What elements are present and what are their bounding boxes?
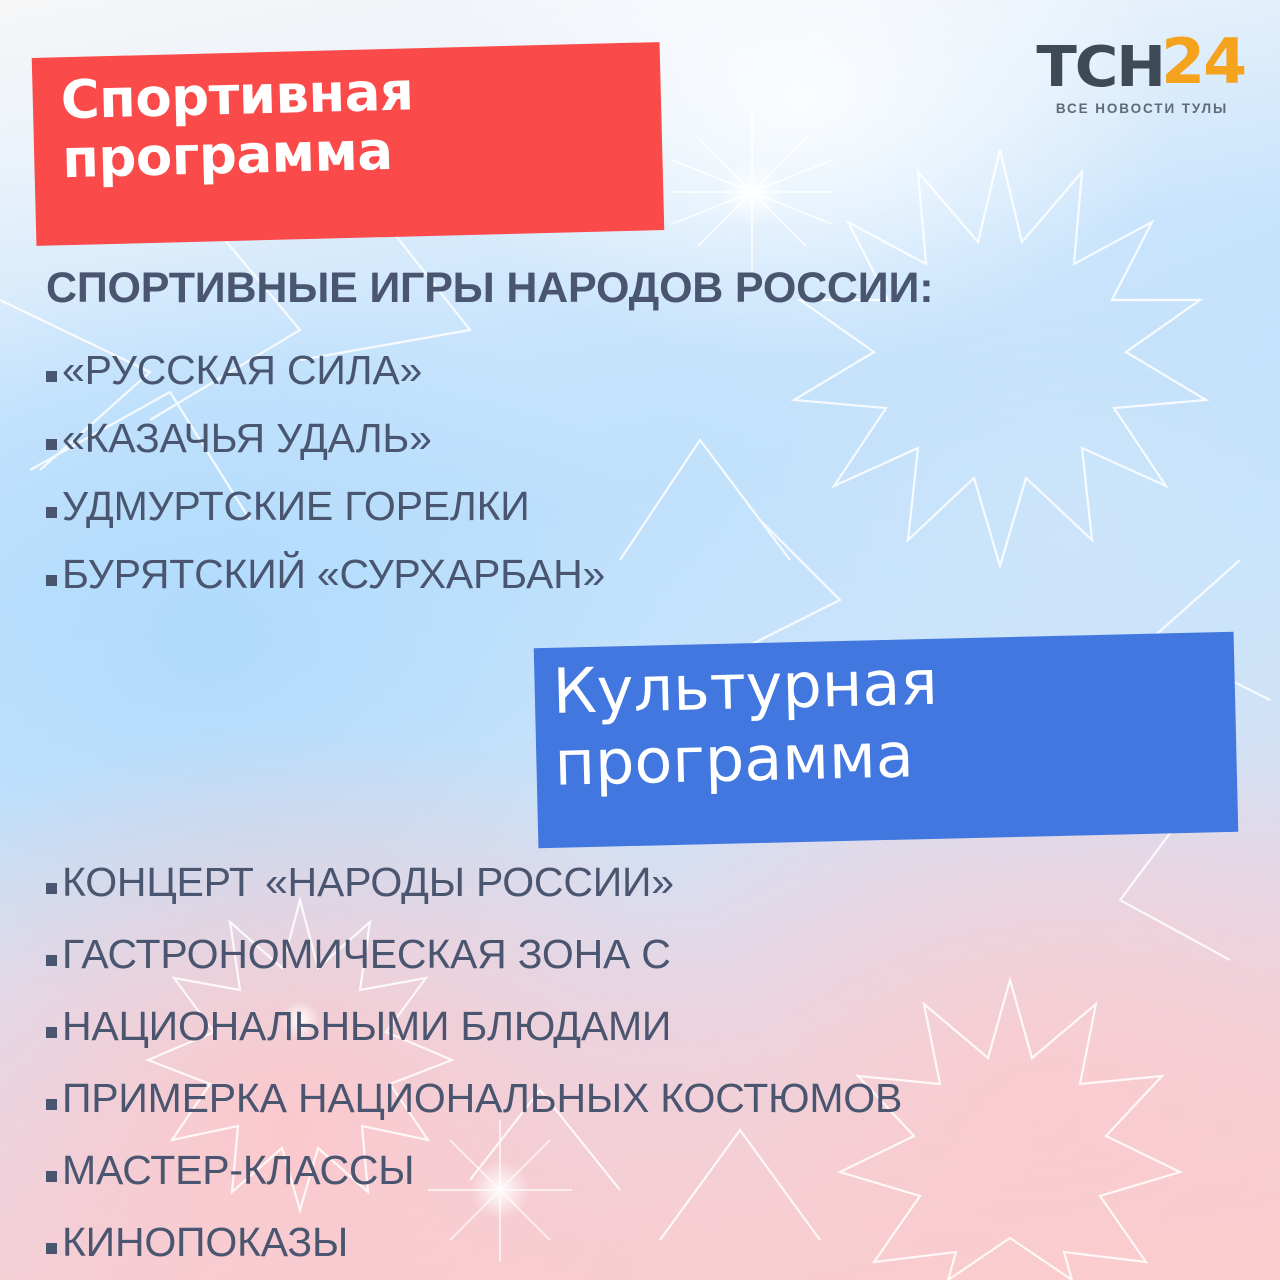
promo-card: ТСН 24 ВСЕ НОВОСТИ ТУЛЫ Спортивная прогр… — [0, 0, 1280, 1280]
list-item-label: УДМУРТСКИЕ ГОРЕЛКИ — [62, 472, 530, 540]
list-item-label: МАСТЕР-КЛАССЫ — [62, 1134, 414, 1206]
square-bullet-icon — [46, 883, 57, 894]
list-item: НАЦИОНАЛЬНЫМИ БЛЮДАМИ — [46, 990, 902, 1062]
list-item: МАСТЕР-КЛАССЫ — [46, 1134, 902, 1206]
logo-wordmark: ТСН 24 — [1038, 44, 1246, 92]
culture-banner-line2: программа — [554, 712, 1218, 799]
list-item: УДМУРТСКИЕ ГОРЕЛКИ — [46, 472, 605, 540]
list-item-label: БУРЯТСКИЙ «СУРХАРБАН» — [62, 540, 605, 608]
square-bullet-icon — [46, 1243, 57, 1254]
brand-logo: ТСН 24 ВСЕ НОВОСТИ ТУЛЫ — [1038, 44, 1246, 116]
sport-items-list: «РУССКАЯ СИЛА» «КАЗАЧЬЯ УДАЛЬ» УДМУРТСКИ… — [46, 336, 605, 608]
square-bullet-icon — [46, 955, 57, 966]
culture-items-list: КОНЦЕРТ «НАРОДЫ РОССИИ» ГАСТРОНОМИЧЕСКАЯ… — [46, 846, 902, 1278]
list-item: КИНОПОКАЗЫ — [46, 1206, 902, 1278]
list-item: ПРИМЕРКА НАЦИОНАЛЬНЫХ КОСТЮМОВ — [46, 1062, 902, 1134]
culture-program-banner: Культурная программа — [534, 632, 1239, 848]
sport-program-banner: Спортивная программа — [32, 42, 665, 246]
list-item-label: ГАСТРОНОМИЧЕСКАЯ ЗОНА С — [62, 918, 671, 990]
list-item: КОНЦЕРТ «НАРОДЫ РОССИИ» — [46, 846, 902, 918]
square-bullet-icon — [46, 575, 57, 586]
square-bullet-icon — [46, 1171, 57, 1182]
list-item-label: НАЦИОНАЛЬНЫМИ БЛЮДАМИ — [62, 990, 671, 1062]
logo-number-text: 24 — [1161, 36, 1245, 89]
list-item: БУРЯТСКИЙ «СУРХАРБАН» — [46, 540, 605, 608]
list-item-label: «РУССКАЯ СИЛА» — [62, 336, 422, 404]
list-item-label: «КАЗАЧЬЯ УДАЛЬ» — [62, 404, 432, 472]
list-item-label: КОНЦЕРТ «НАРОДЫ РОССИИ» — [62, 846, 674, 918]
list-item: «РУССКАЯ СИЛА» — [46, 336, 605, 404]
square-bullet-icon — [46, 439, 57, 450]
logo-tagline: ВСЕ НОВОСТИ ТУЛЫ — [1038, 101, 1246, 116]
square-bullet-icon — [46, 1099, 57, 1110]
list-item: «КАЗАЧЬЯ УДАЛЬ» — [46, 404, 605, 472]
square-bullet-icon — [46, 1027, 57, 1038]
sport-section-heading: СПОРТИВНЫЕ ИГРЫ НАРОДОВ РОССИИ: — [46, 264, 933, 313]
square-bullet-icon — [46, 371, 57, 382]
square-bullet-icon — [46, 507, 57, 518]
sport-banner-line2: программа — [62, 116, 641, 190]
list-item-label: КИНОПОКАЗЫ — [62, 1206, 348, 1278]
list-item: ГАСТРОНОМИЧЕСКАЯ ЗОНА С — [46, 918, 902, 990]
logo-primary-text: ТСН — [1036, 44, 1163, 92]
list-item-label: ПРИМЕРКА НАЦИОНАЛЬНЫХ КОСТЮМОВ — [62, 1062, 902, 1134]
